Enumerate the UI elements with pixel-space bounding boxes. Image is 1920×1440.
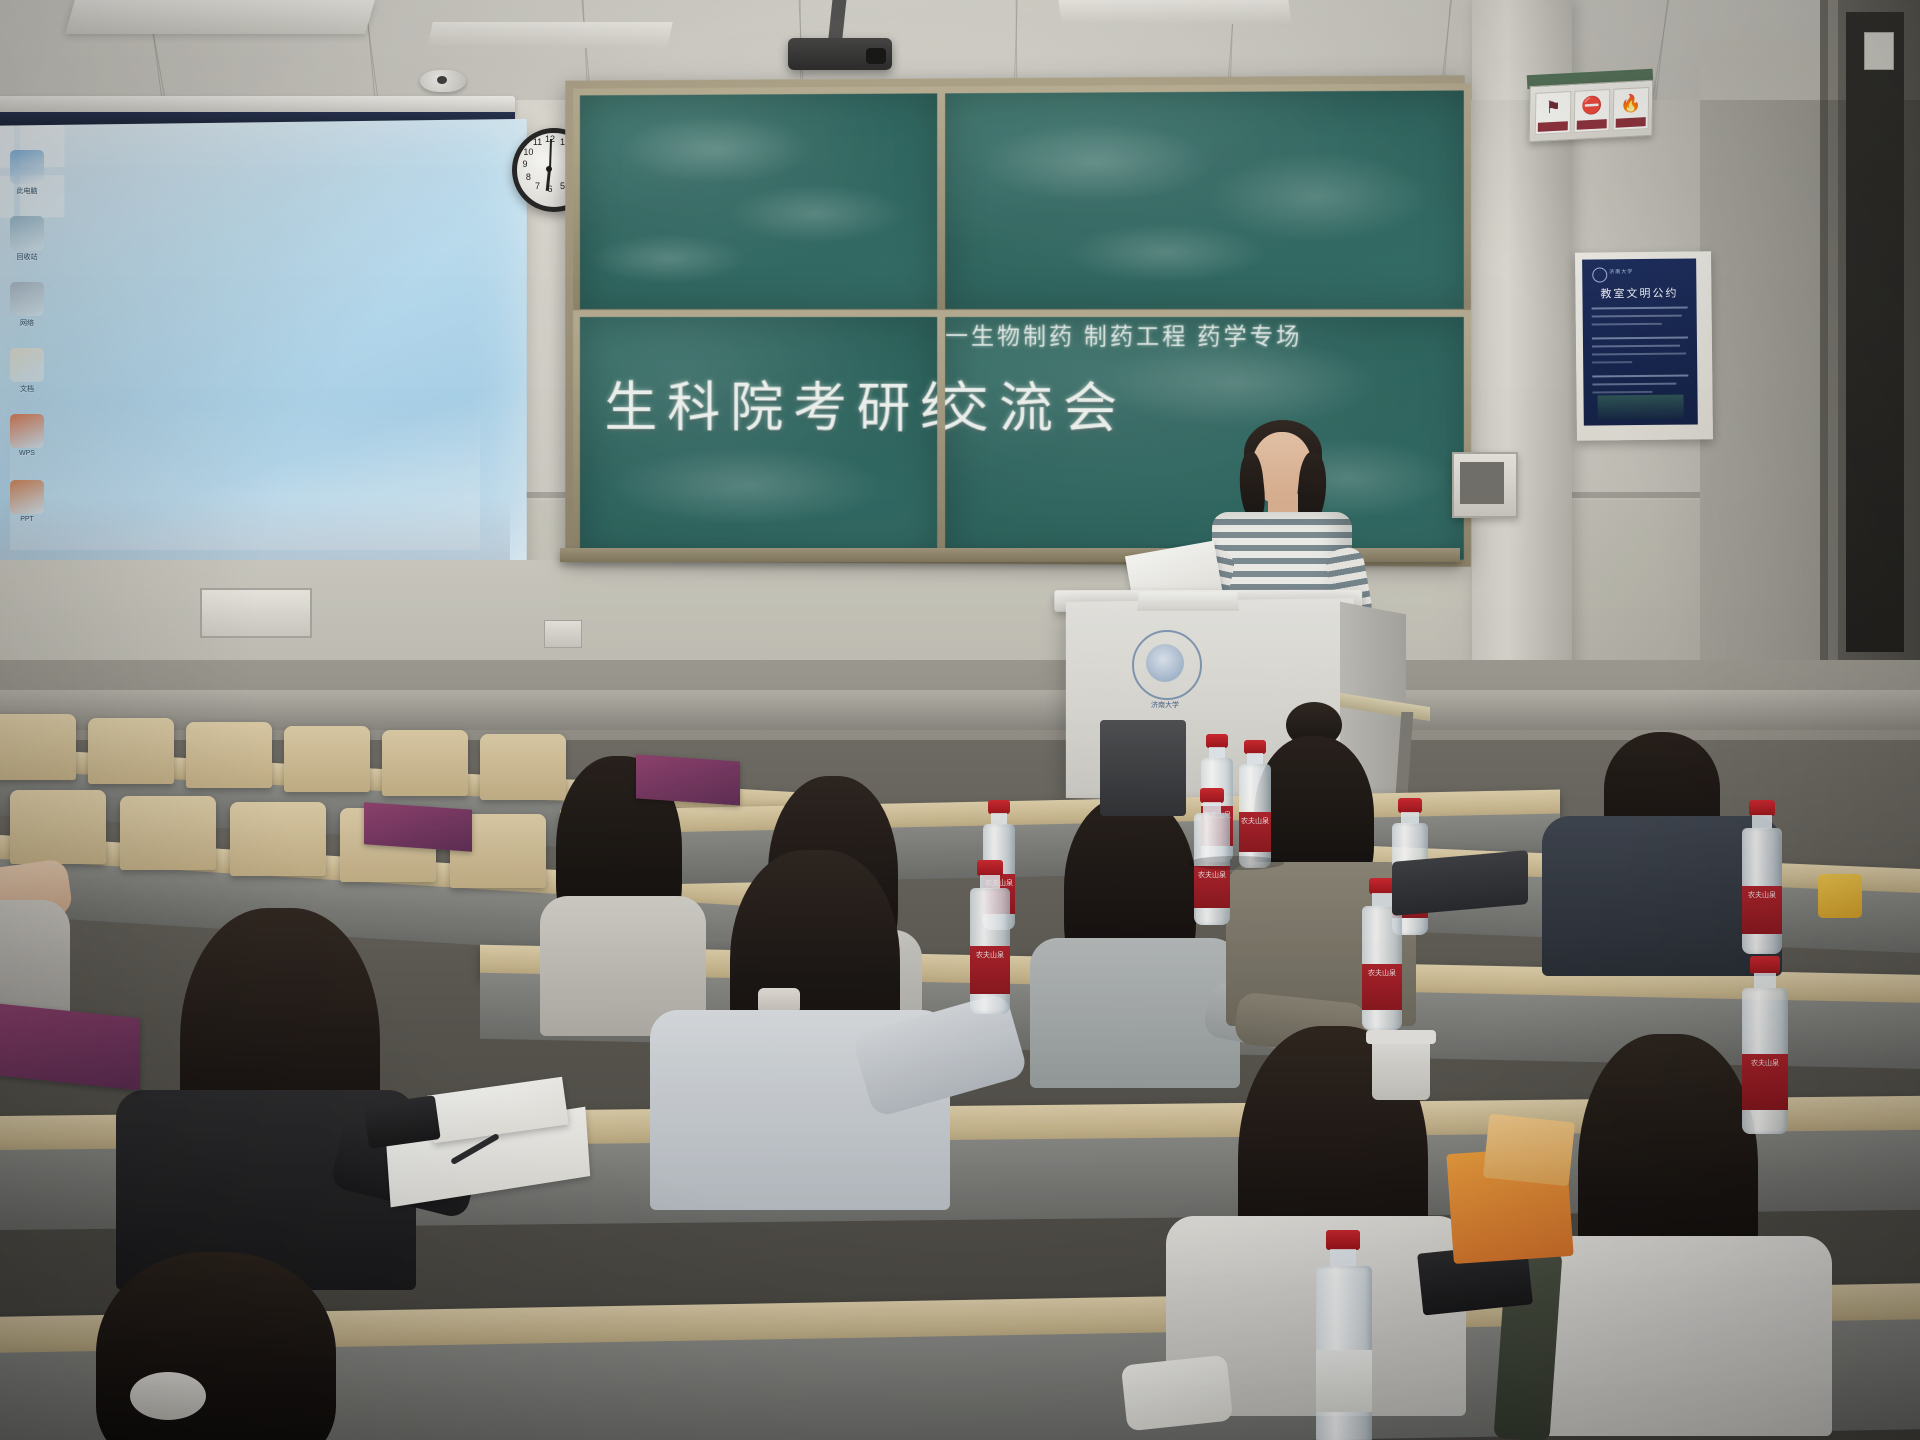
clock-numeral: 9 <box>519 159 531 169</box>
no-smoking-icon: ⛔ <box>1580 93 1604 118</box>
podium-emblem-label: 济南大学 <box>1132 700 1198 710</box>
blackboard-pane-bottom-left: 生科院考研经验 <box>573 310 944 564</box>
yellow-item[interactable] <box>1818 874 1862 918</box>
clock-minute-hand <box>549 139 552 169</box>
safety-sign-cell: 🔥 <box>1613 87 1650 131</box>
smoke-detector-led-icon <box>437 76 447 84</box>
lecture-hall-photo: 此电脑回收站网络文档WPSPPT 121234567891011 生科院考研经验… <box>0 0 1920 1440</box>
poster-title: 教室文明公约 <box>1582 284 1696 301</box>
screen-control-panel[interactable] <box>200 588 312 638</box>
desktop-icon-label: PPT <box>0 516 56 523</box>
wall-junction-box-panel <box>1460 462 1504 504</box>
blackboard-pane-bottom-right: 交流会 一生物制药 制药工程 药学专场 <box>938 310 1471 567</box>
desktop-icon-label: 网络 <box>0 318 56 328</box>
ceiling-light <box>65 0 375 34</box>
bottle-label: 农夫山泉 <box>1742 1054 1788 1110</box>
desktop-icon-label: 文档 <box>0 384 56 394</box>
poster-brand-text: 济南大学 <box>1609 268 1633 275</box>
desktop-icon[interactable] <box>10 150 44 184</box>
safety-sign-board: ⚑ ⛔ 🔥 <box>1529 80 1654 143</box>
seat-back[interactable] <box>120 796 216 870</box>
bottle-label: 农夫山泉 <box>1362 964 1402 1010</box>
seat-back[interactable] <box>0 714 76 780</box>
no-littering-icon: ⚑ <box>1541 95 1565 120</box>
clock-numeral: 8 <box>522 172 534 182</box>
desktop-icon[interactable] <box>10 282 44 316</box>
safety-sign-cell: ⛔ <box>1574 89 1611 133</box>
dark-bag[interactable] <box>1100 720 1186 816</box>
seat-back[interactable] <box>88 718 174 784</box>
seat-back[interactable] <box>230 802 326 876</box>
blackboard-pane-top-right <box>938 83 1471 316</box>
blackboard-pane-top-left <box>573 86 944 316</box>
wall-socket-panel[interactable] <box>544 620 582 648</box>
tissue-paper[interactable] <box>1121 1355 1233 1432</box>
poster-inner: 济南大学 教室文明公约 <box>1582 258 1698 425</box>
blackboard: 生科院考研经验 交流会 一生物制药 制药工程 药学专场 <box>565 75 1465 560</box>
hair-clip-icon <box>130 1372 206 1420</box>
clock-center-pin <box>546 166 552 172</box>
clock-numeral: 11 <box>532 137 544 147</box>
clock-numeral: 10 <box>522 147 534 157</box>
student-torso <box>0 900 70 1020</box>
poster-flyer-on-desk[interactable] <box>636 754 740 805</box>
classroom-rules-poster: 济南大学 教室文明公约 <box>1575 251 1713 440</box>
blackboard-title-left: 生科院考研经验 <box>604 364 944 444</box>
light-switch[interactable] <box>1864 32 1894 70</box>
desktop-icon-label: 此电脑 <box>0 186 56 196</box>
seat-back[interactable] <box>186 722 272 788</box>
desktop-icon[interactable] <box>10 414 44 448</box>
poster-flyer-on-desk[interactable] <box>364 802 472 852</box>
bottle-cluster-shadow <box>1188 856 1284 870</box>
desktop-icon[interactable] <box>10 480 44 514</box>
seat-back[interactable] <box>10 790 106 864</box>
blackboard-title-right: 交流会 <box>938 364 1127 443</box>
seat-back[interactable] <box>284 726 370 792</box>
seat-back[interactable] <box>382 730 468 796</box>
desktop-icon[interactable] <box>10 348 44 382</box>
stage-front-edge <box>0 690 1920 730</box>
bottle-label: 农夫山泉 <box>970 946 1010 994</box>
clock-numeral: 7 <box>532 181 544 191</box>
paper-cup-lid <box>1366 1030 1436 1044</box>
projector-lens-icon <box>866 48 886 64</box>
no-fire-icon: 🔥 <box>1619 91 1643 116</box>
bottle-label: 农夫山泉 <box>1239 812 1271 852</box>
laptop-on-podium[interactable] <box>1137 592 1239 611</box>
ceiling-light <box>427 22 673 48</box>
university-seal-icon <box>1592 267 1607 282</box>
ceiling-light <box>1058 0 1291 24</box>
paper-cup[interactable] <box>1372 1036 1430 1100</box>
seat-back[interactable] <box>480 734 566 800</box>
safety-sign-cell: ⚑ <box>1535 91 1572 135</box>
desktop-icon-label: 回收站 <box>0 252 56 262</box>
poster-footer-image <box>1598 395 1684 420</box>
bottle-label: 农夫山泉 <box>1194 866 1230 908</box>
desktop-icon-label: WPS <box>0 450 56 457</box>
desktop-icon[interactable] <box>10 216 44 250</box>
bottle-label: 农夫山泉 <box>1742 886 1782 934</box>
student-hair <box>96 1252 336 1440</box>
snack-bag[interactable] <box>1483 1114 1575 1187</box>
podium-emblem-inner-icon <box>1146 644 1184 682</box>
